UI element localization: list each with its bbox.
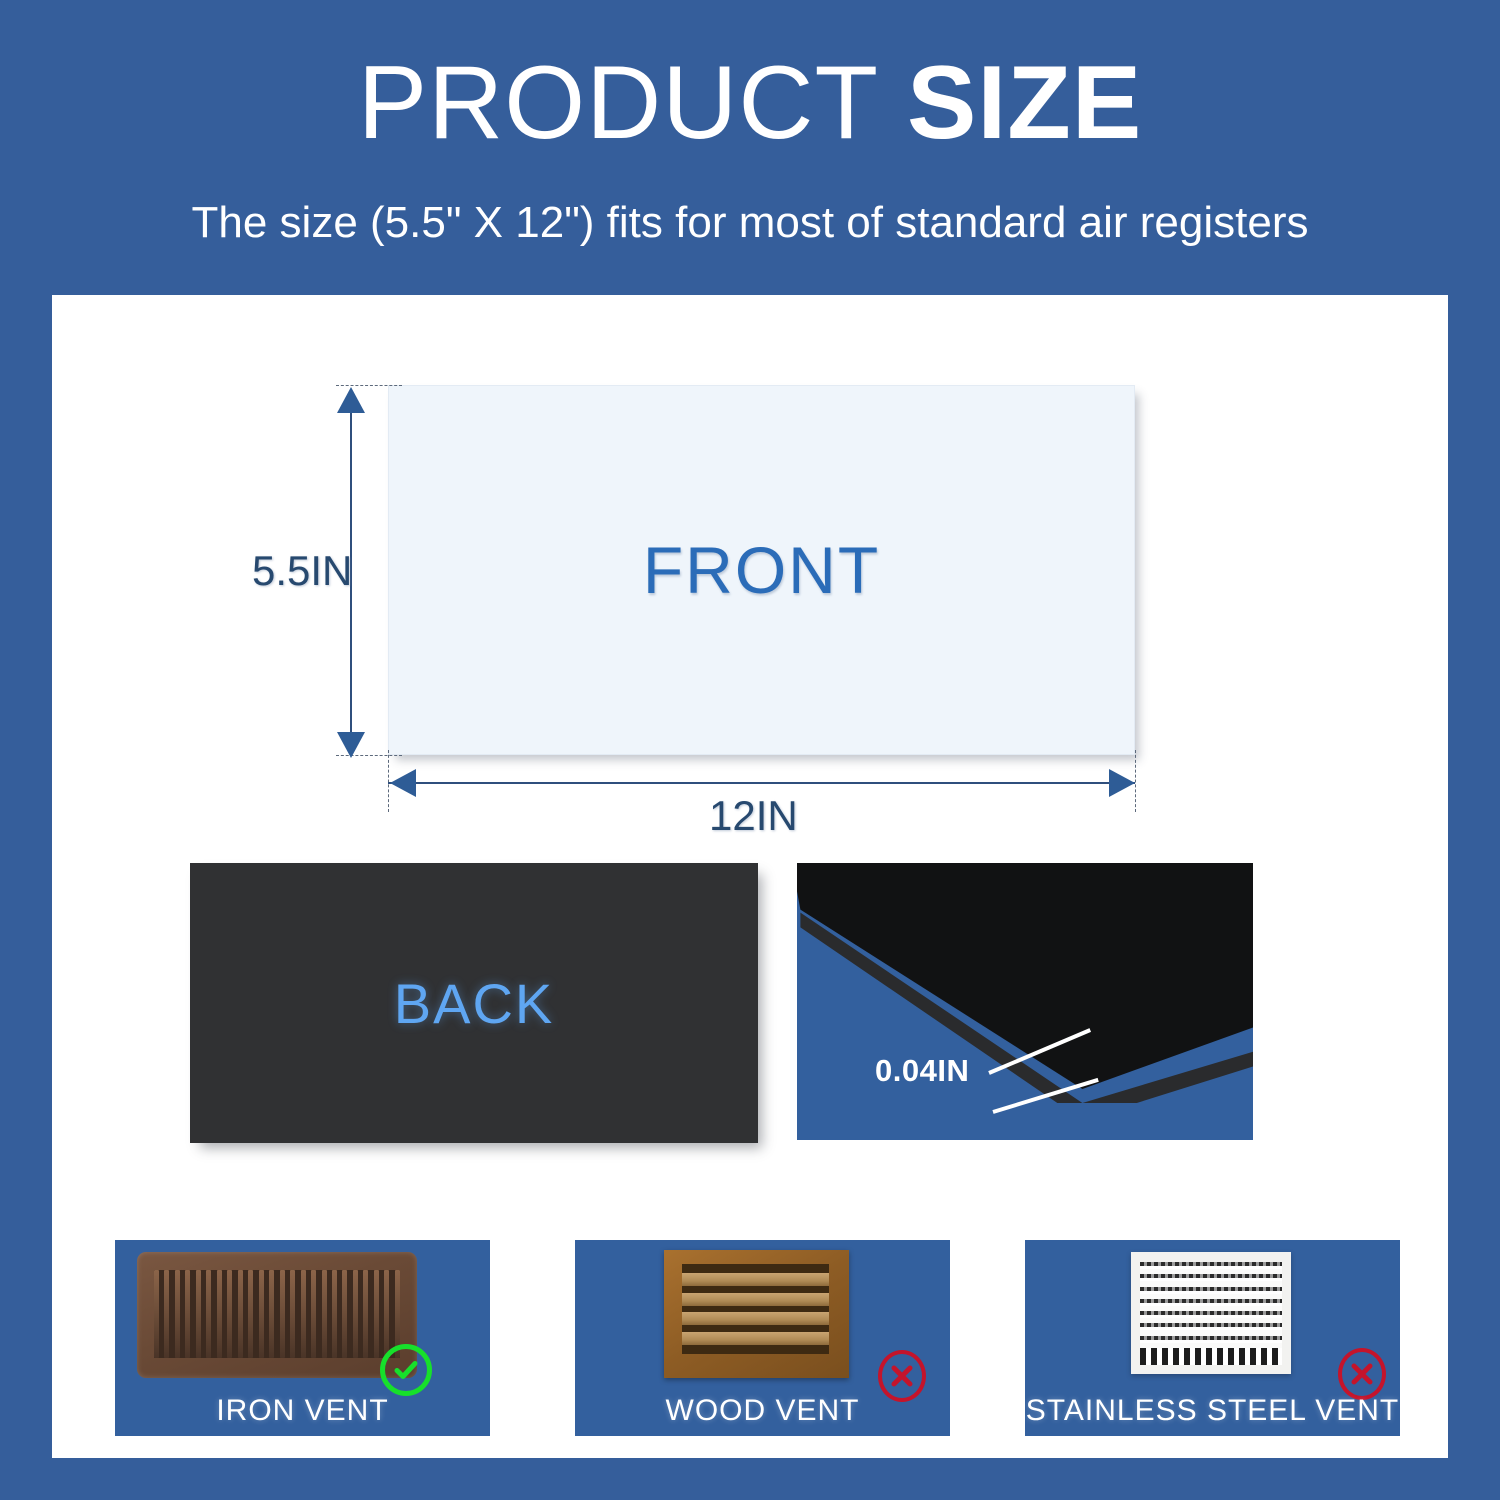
content-panel: FRONT 5.5IN 12IN BACK 0.04IN: [52, 295, 1448, 1458]
product-size-infographic: PRODUCT SIZE The size (5.5" X 12") fits …: [0, 0, 1500, 1500]
card-stainless-steel-vent[interactable]: STAINLESS STEEL VENT: [1025, 1240, 1400, 1436]
height-arrow-up-icon: [337, 387, 365, 413]
compatibility-cards: IRON VENT WOOD VENT: [52, 1240, 1448, 1436]
stainless-steel-vent-image: [1131, 1252, 1291, 1374]
iron-vent-louvers: [154, 1270, 400, 1358]
width-dimension-label: 12IN: [709, 792, 798, 840]
cross-icon: [1338, 1348, 1386, 1400]
card-iron-vent-label: IRON VENT: [115, 1394, 490, 1428]
width-dimension-line: [388, 782, 1135, 784]
width-arrow-left-icon: [390, 769, 416, 797]
page-title-part1: PRODUCT: [358, 45, 907, 161]
card-iron-vent[interactable]: IRON VENT: [115, 1240, 490, 1436]
thickness-label: 0.04IN: [875, 1053, 969, 1089]
card-wood-vent[interactable]: WOOD VENT: [575, 1240, 950, 1436]
front-sheet-illustration: FRONT: [388, 385, 1135, 755]
iron-vent-image: [137, 1252, 417, 1378]
page-title: PRODUCT SIZE: [0, 48, 1500, 158]
front-sheet-label: FRONT: [389, 386, 1134, 754]
card-stainless-steel-vent-label: STAINLESS STEEL VENT: [1025, 1394, 1400, 1428]
page-title-part2: SIZE: [907, 45, 1142, 161]
stainless-steel-vent-louvers: [1140, 1262, 1282, 1365]
back-sheet-illustration: BACK: [190, 863, 758, 1143]
height-dimension-label: 5.5IN: [252, 547, 352, 595]
extension-line-left: [388, 750, 389, 812]
wood-vent-louvers: [682, 1264, 829, 1354]
stainless-steel-vent-damper: [1140, 1348, 1282, 1365]
header: PRODUCT SIZE The size (5.5" X 12") fits …: [0, 0, 1500, 295]
back-sheet-label: BACK: [190, 863, 758, 1143]
thickness-illustration: 0.04IN: [797, 863, 1253, 1140]
check-icon: [380, 1344, 432, 1396]
extension-line-top: [336, 385, 402, 386]
page-subtitle: The size (5.5" X 12") fits for most of s…: [0, 197, 1500, 249]
width-arrow-right-icon: [1109, 769, 1135, 797]
wood-vent-image: [664, 1250, 849, 1378]
extension-line-right: [1135, 750, 1136, 812]
height-arrow-down-icon: [337, 732, 365, 758]
card-wood-vent-label: WOOD VENT: [575, 1394, 950, 1428]
